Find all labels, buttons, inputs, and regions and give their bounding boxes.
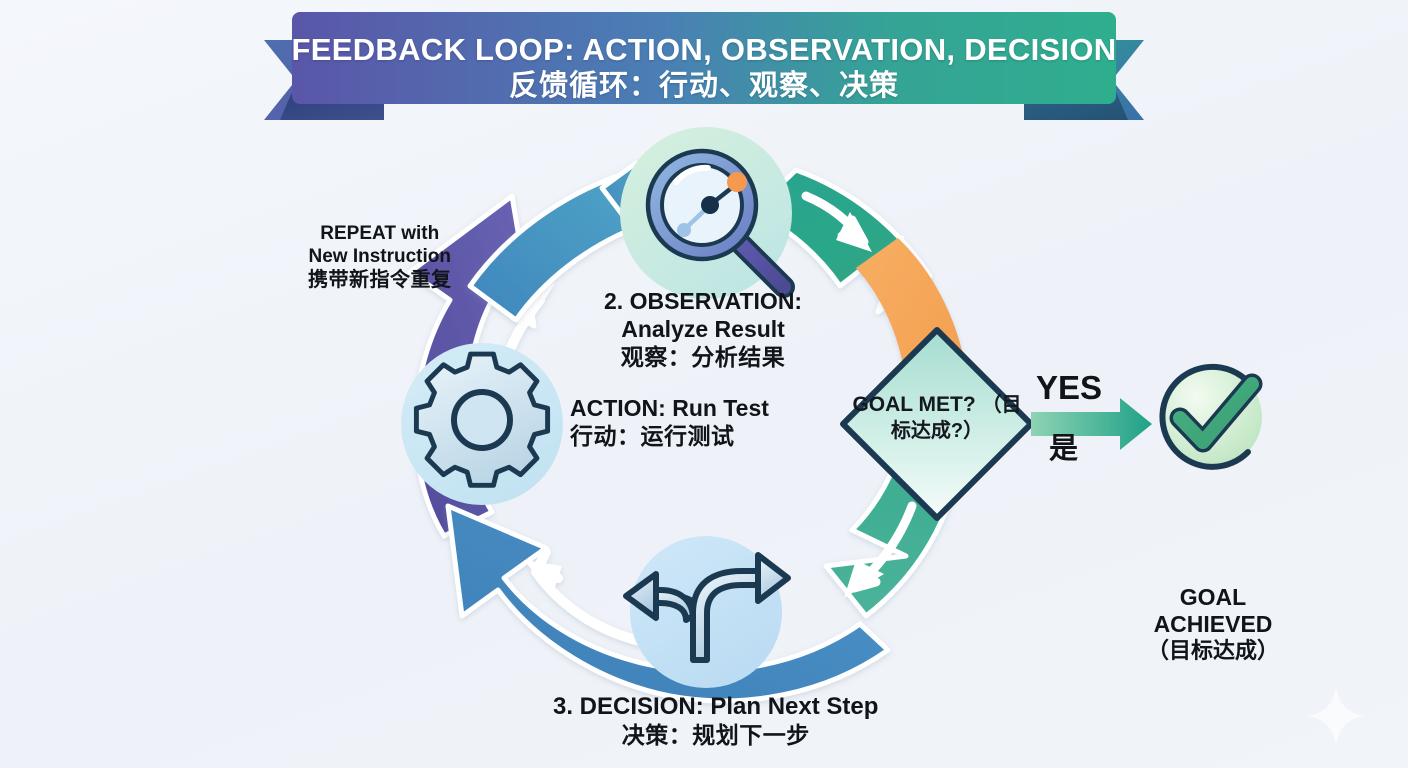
observation-node[interactable] [620,127,792,299]
repeat-label: REPEAT with New Instruction 携带新指令重复 [308,222,452,293]
goal-achieved-line2: ACHIEVED [1118,611,1308,638]
repeat-label-line2: New Instruction [308,245,452,268]
repeat-label-line1: REPEAT with [308,222,452,245]
observation-label-line1: 2. OBSERVATION: [604,287,802,315]
action-node[interactable] [401,343,563,505]
repeat-label-zh: 携带新指令重复 [308,268,452,292]
yes-label: YES [1036,368,1102,408]
action-label-zh: 行动：运行测试 [570,422,769,450]
goal-met-diamond[interactable] [843,330,1031,518]
gear-icon [416,354,547,485]
goal-achieved-node [1162,367,1262,467]
sparkle-icon [1308,688,1364,744]
goal-achieved-line1: GOAL [1118,584,1308,611]
yes-label-zh: 是 [1049,432,1078,467]
observation-label-line2: Analyze Result [604,315,802,343]
action-label: ACTION: Run Test 行动：运行测试 [570,394,769,450]
decision-label: 3. DECISION: Plan Next Step 决策：规划下一步 [553,692,878,749]
decision-label-zh: 决策：规划下一步 [553,721,878,749]
diagram-canvas: FEEDBACK LOOP: ACTION, OBSERVATION, DECI… [0,0,1408,768]
action-label-line1: ACTION: Run Test [570,394,769,422]
observation-label-zh: 观察：分析结果 [604,343,802,371]
observation-label: 2. OBSERVATION: Analyze Result 观察：分析结果 [604,287,802,371]
goal-achieved-zh: （目标达成） [1118,638,1308,664]
decision-label-line1: 3. DECISION: Plan Next Step [553,692,878,721]
goal-achieved-label: GOAL ACHIEVED （目标达成） [1118,584,1308,664]
